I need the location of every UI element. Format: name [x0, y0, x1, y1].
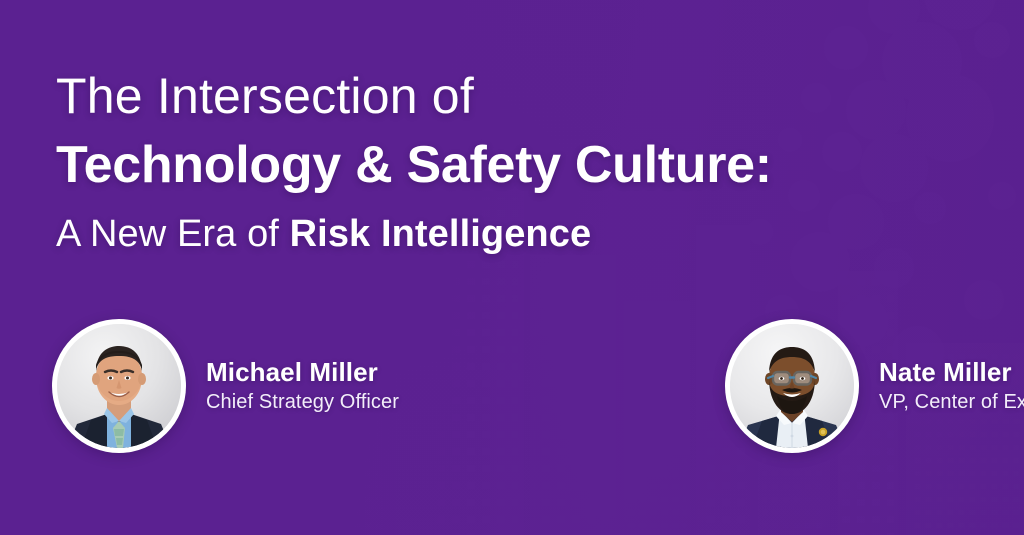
headline-line-2: Technology & Safety Culture:: [56, 132, 956, 198]
webinar-promo-banner: The Intersection of Technology & Safety …: [0, 0, 1024, 535]
avatar: [730, 324, 854, 448]
avatar-ring: [725, 319, 859, 453]
headline-line-1: The Intersection of: [56, 66, 956, 126]
speaker-name: Nate Miller: [879, 357, 1024, 387]
speaker-photo-michael-miller: [57, 324, 181, 448]
speaker-role: VP, Center of Excellence: [879, 389, 1024, 415]
headline-block: The Intersection of Technology & Safety …: [56, 66, 956, 260]
avatar: [57, 324, 181, 448]
headline-line-3: A New Era of Risk Intelligence: [56, 208, 956, 260]
speaker-card-michael-miller: Michael Miller Chief Strategy Officer: [52, 319, 399, 453]
speaker-text: Michael Miller Chief Strategy Officer: [206, 357, 399, 415]
speaker-text: Nate Miller VP, Center of Excellence: [879, 357, 1024, 415]
speaker-name: Michael Miller: [206, 357, 399, 387]
speaker-photo-nate-miller: [730, 324, 854, 448]
avatar-ring: [52, 319, 186, 453]
speakers-row: Michael Miller Chief Strategy Officer: [52, 319, 1024, 453]
headline-line-3-bold: Risk Intelligence: [290, 213, 592, 255]
speaker-card-nate-miller: Nate Miller VP, Center of Excellence: [725, 319, 1024, 453]
speaker-role: Chief Strategy Officer: [206, 389, 399, 415]
headline-line-3-light: A New Era of: [56, 213, 290, 255]
